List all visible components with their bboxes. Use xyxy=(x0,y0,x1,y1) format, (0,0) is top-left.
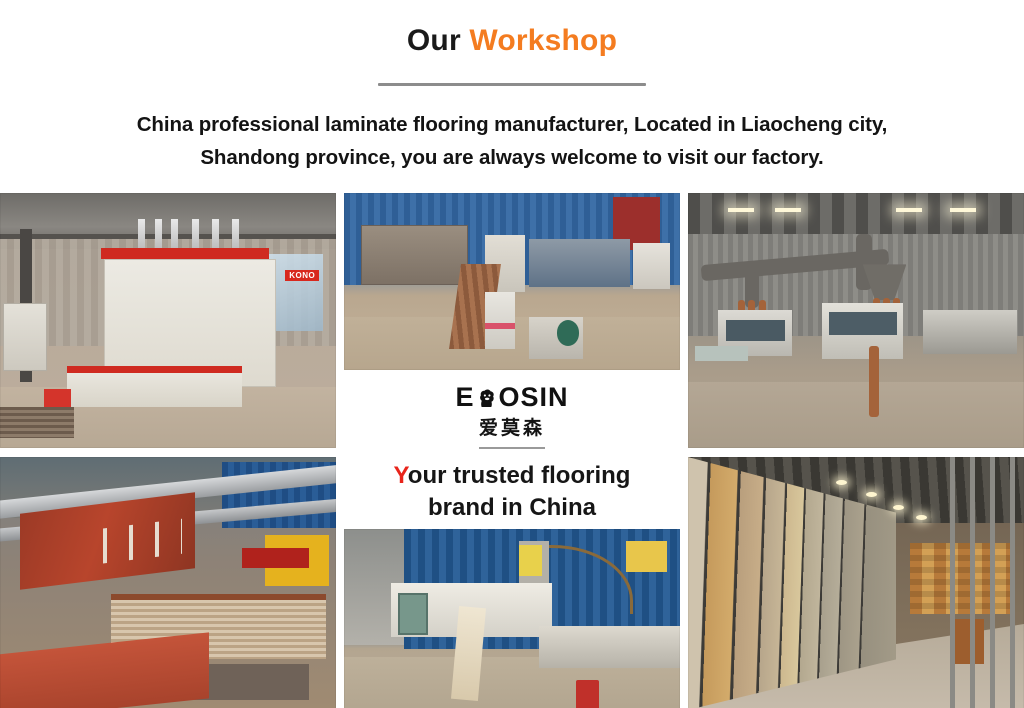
brand-tagline: Your trusted flooring brand in China xyxy=(394,460,631,523)
metal-railing xyxy=(950,457,1024,708)
photo-gallery-grid: KONO xyxy=(0,193,1024,708)
page-header: Our Workshop China professional laminate… xyxy=(0,0,1024,174)
logo-letter-e: E xyxy=(455,384,474,411)
tagline-highlight-letter: Y xyxy=(394,462,408,489)
machine-window xyxy=(829,312,897,336)
control-panel xyxy=(3,303,47,372)
machine-cabinet xyxy=(633,243,670,289)
roller-conveyor xyxy=(539,626,680,668)
gorilla-icon xyxy=(474,385,500,411)
cnc-machine xyxy=(923,310,1017,353)
tagline-line-1-rest: our trusted flooring xyxy=(408,462,631,489)
page-subtitle: China professional laminate flooring man… xyxy=(0,108,1024,174)
ceiling-beam xyxy=(0,234,336,239)
column-gap xyxy=(680,193,688,708)
column-gap xyxy=(336,193,344,708)
logo-divider xyxy=(479,447,545,449)
press-base xyxy=(67,366,242,407)
tagline-line-1: Your trusted flooring xyxy=(394,460,631,492)
page-title-accent: Workshop xyxy=(469,24,617,57)
red-carton xyxy=(44,389,71,407)
subtitle-line-1: China professional laminate flooring man… xyxy=(0,108,1024,141)
row-gap xyxy=(688,448,1024,457)
material-sack xyxy=(485,292,515,349)
roof-structure xyxy=(688,193,1024,239)
gallery-column-center: E OSIN 爱莫森 Your trusted flooring brand i… xyxy=(344,193,680,708)
logo-chinese-name: 爱莫森 xyxy=(479,413,545,440)
row-gap xyxy=(0,448,336,457)
red-banner xyxy=(242,548,309,568)
press-top-rail xyxy=(101,248,269,259)
page-title-primary: Our xyxy=(407,24,469,57)
gallery-column-right xyxy=(688,193,1024,708)
logo-letters-osin: OSIN xyxy=(499,384,569,411)
tagline-line-2: brand in China xyxy=(394,492,631,524)
photo-cnc-dust-hall[interactable] xyxy=(688,193,1024,448)
factory-floor xyxy=(688,382,1024,448)
photo-hdf-stacks[interactable] xyxy=(0,457,336,708)
warning-sign xyxy=(626,541,666,572)
conveyor-belt xyxy=(0,633,208,708)
brand-block: E OSIN 爱莫森 Your trusted flooring brand i… xyxy=(344,370,680,529)
work-table xyxy=(695,346,749,361)
motor-pump-unit xyxy=(529,317,583,359)
page-title: Our Workshop xyxy=(0,24,1024,57)
kono-brand-label: KONO xyxy=(285,270,319,281)
control-box xyxy=(398,593,428,635)
ceiling-light xyxy=(728,208,754,212)
machine-unit xyxy=(361,225,469,285)
ceiling-light xyxy=(775,208,801,212)
ceiling-light xyxy=(896,208,922,212)
photo-blue-container[interactable] xyxy=(344,529,680,708)
fire-extinguisher xyxy=(576,680,600,708)
ceiling-light xyxy=(950,208,976,212)
photo-press-machine[interactable]: KONO xyxy=(0,193,336,448)
warning-sign xyxy=(519,545,543,576)
material-stack xyxy=(0,407,74,438)
title-divider xyxy=(378,83,646,86)
emosin-logo: E OSIN xyxy=(455,384,568,411)
photo-machine-room[interactable] xyxy=(344,193,680,370)
machine-window xyxy=(726,320,785,341)
cnc-machine xyxy=(822,303,903,359)
hall-window xyxy=(269,254,323,331)
subtitle-line-2: Shandong province, you are always welcom… xyxy=(0,141,1024,174)
photo-showroom[interactable] xyxy=(688,457,1024,708)
workshop-page: Our Workshop China professional laminate… xyxy=(0,0,1024,708)
ceiling-spotlight xyxy=(836,480,847,485)
suction-hose xyxy=(869,346,879,417)
machine-unit xyxy=(529,239,630,287)
gallery-column-left: KONO xyxy=(0,193,336,708)
